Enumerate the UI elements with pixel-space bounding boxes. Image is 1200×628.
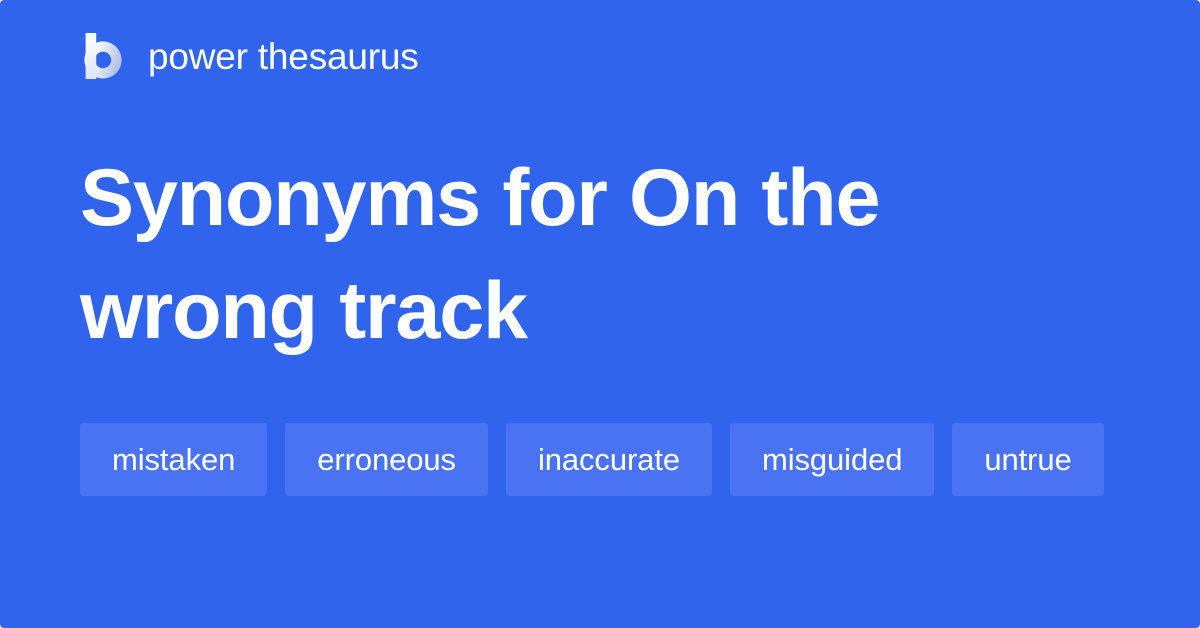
synonym-chip[interactable]: untrue (952, 423, 1103, 496)
brand-name: power thesaurus (148, 38, 419, 75)
synonym-chip-list: mistaken erroneous inaccurate misguided … (80, 423, 1120, 496)
brand-header[interactable]: power thesaurus (80, 28, 419, 84)
synonym-chip[interactable]: erroneous (285, 423, 488, 496)
page-title: Synonyms for On the wrong track (80, 142, 1080, 368)
synonym-chip[interactable]: inaccurate (506, 423, 712, 496)
synonym-chip[interactable]: mistaken (80, 423, 267, 496)
synonym-chip[interactable]: misguided (730, 423, 934, 496)
share-card: power thesaurus Synonyms for On the wron… (0, 0, 1200, 628)
power-thesaurus-b-logo-icon (80, 33, 124, 79)
